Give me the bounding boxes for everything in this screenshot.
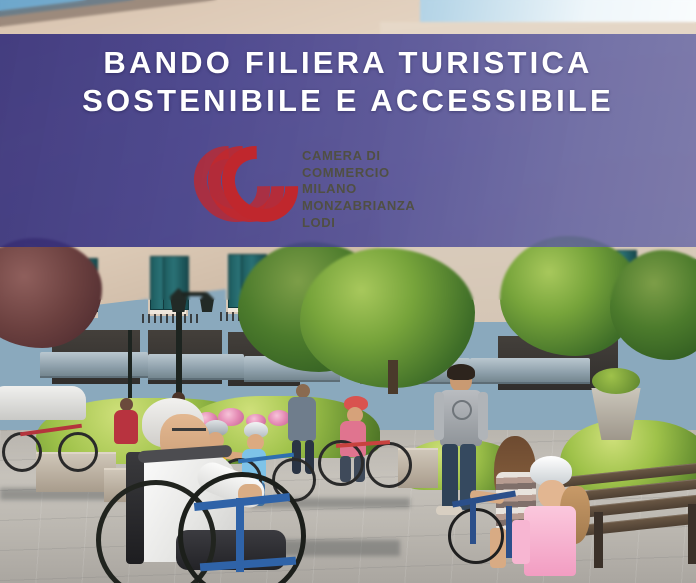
bench-leg [594, 512, 603, 568]
bicycle-wheel [366, 442, 412, 488]
tree-trunk [388, 360, 398, 394]
three-arcs-logo-icon [196, 144, 288, 228]
flowers [268, 410, 290, 426]
urn-plant [592, 368, 640, 394]
parked-car [0, 386, 86, 420]
chamber-of-commerce-logo: CAMERA DI COMMERCIO MILANO MONZABRIANZA … [196, 144, 415, 231]
shop-awning [470, 358, 590, 384]
bicycle-frame [506, 506, 512, 558]
lamp-arm [182, 292, 206, 296]
logo-text: CAMERA DI COMMERCIO MILANO MONZABRIANZA … [302, 144, 415, 231]
shop-awning [148, 354, 244, 380]
bench-leg [688, 504, 696, 564]
hair [447, 364, 475, 380]
poster-root: BANDO FILIERA TURISTICA SOSTENIBILE E AC… [0, 0, 696, 583]
balcony-railing [142, 314, 198, 323]
tshirt-print [452, 400, 472, 420]
glasses [172, 428, 206, 431]
bicycle-frame [470, 500, 476, 544]
bicycle-wheel [2, 432, 42, 472]
title-banner: BANDO FILIERA TURISTICA SOSTENIBILE E AC… [0, 34, 696, 247]
page-title: BANDO FILIERA TURISTICA SOSTENIBILE E AC… [0, 44, 696, 120]
bicycle-wheel [448, 508, 504, 564]
bicycle-wheel [58, 432, 98, 472]
